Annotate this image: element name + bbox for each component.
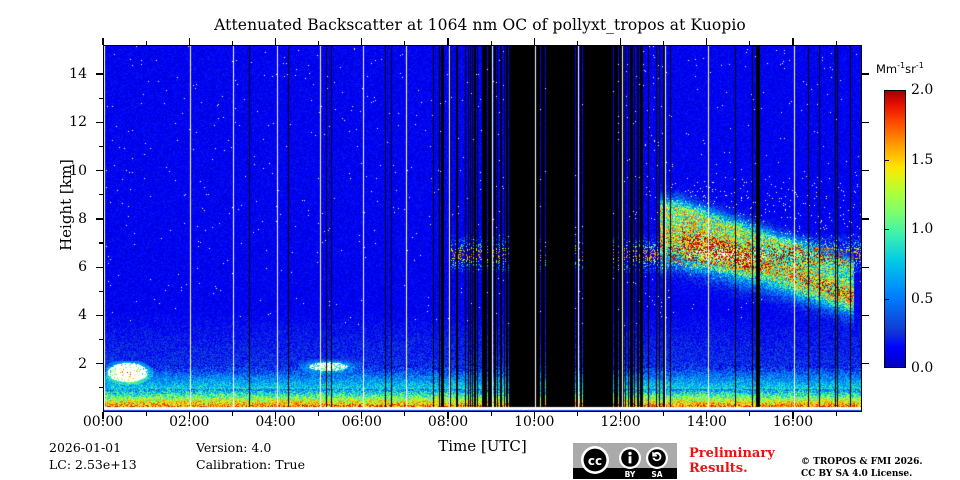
footer-date: 2026-01-01	[49, 440, 121, 455]
x-tick-mark	[102, 412, 103, 419]
x-tick-minor	[749, 412, 750, 416]
y-tick-mark	[96, 122, 103, 123]
x-tick-mark-top	[361, 38, 362, 45]
preliminary-results-notice: Preliminary Results.	[689, 446, 775, 476]
x-tick-mark	[534, 412, 535, 419]
x-tick-minor	[404, 412, 405, 416]
x-tick-mark	[706, 412, 707, 419]
y-tick-minor	[99, 339, 103, 340]
y-tick-minor	[99, 98, 103, 99]
x-tick-minor-top	[318, 41, 319, 45]
colorbar-tick-label: 1.0	[911, 221, 933, 237]
preliminary-line-1: Preliminary	[689, 446, 775, 461]
copyright-notice: © TROPOS & FMI 2026. CC BY SA 4.0 Licens…	[801, 456, 923, 480]
x-tick-mark-top	[534, 38, 535, 45]
plot-area	[103, 45, 862, 412]
y-tick-mark	[96, 218, 103, 219]
x-tick-minor	[836, 412, 837, 416]
x-tick-mark-top	[275, 38, 276, 45]
x-tick-mark-top	[792, 38, 793, 45]
footer-version: Version: 4.0	[196, 440, 271, 455]
backscatter-heatmap	[104, 46, 862, 412]
x-tick-minor-top	[577, 41, 578, 45]
y-tick-label: 8	[47, 211, 87, 227]
x-tick-minor	[318, 412, 319, 416]
y-tick-mark-right	[862, 170, 869, 171]
y-tick-mark-right	[862, 218, 869, 219]
x-tick-mark	[447, 412, 448, 419]
x-tick-mark	[189, 412, 190, 419]
y-tick-label: 12	[47, 114, 87, 130]
colorbar-unit-label: Mm-1sr-1	[876, 61, 924, 76]
x-tick-minor	[146, 412, 147, 416]
colorbar-tick-mark	[884, 160, 889, 161]
x-tick-minor	[491, 412, 492, 416]
y-tick-label: 2	[47, 356, 87, 372]
y-tick-minor	[99, 387, 103, 388]
y-tick-minor	[99, 146, 103, 147]
y-tick-mark	[96, 267, 103, 268]
x-tick-minor-top	[663, 41, 664, 45]
y-tick-mark	[96, 315, 103, 316]
cc-sa-label: SA	[651, 470, 662, 479]
lidar-quicklook-figure: Attenuated Backscatter at 1064 nm OC of …	[0, 0, 960, 480]
x-tick-minor-top	[146, 41, 147, 45]
cc-mark-text: cc	[588, 454, 602, 468]
creative-commons-badge: cc BY SA	[573, 443, 677, 479]
y-tick-mark	[96, 170, 103, 171]
colorbar-tick-label: 0.0	[911, 360, 933, 376]
y-tick-mark-right	[862, 122, 869, 123]
x-tick-mark	[361, 412, 362, 419]
x-tick-minor	[232, 412, 233, 416]
x-tick-mark-top	[620, 38, 621, 45]
y-tick-mark	[96, 363, 103, 364]
footer-lidar-constant: LC: 2.53e+13	[49, 457, 137, 472]
y-tick-label: 10	[47, 163, 87, 179]
y-tick-label: 6	[47, 259, 87, 275]
y-tick-mark-right	[862, 73, 869, 74]
y-tick-minor	[99, 291, 103, 292]
x-tick-mark-top	[102, 38, 103, 45]
y-tick-mark	[96, 73, 103, 74]
x-tick-minor-top	[491, 41, 492, 45]
y-tick-minor	[99, 242, 103, 243]
x-tick-mark-top	[706, 38, 707, 45]
x-tick-mark-top	[189, 38, 190, 45]
copyright-line-2: CC BY SA 4.0 License.	[801, 468, 923, 480]
y-tick-mark-right	[862, 315, 869, 316]
y-tick-mark-right	[862, 363, 869, 364]
x-tick-minor-top	[404, 41, 405, 45]
x-tick-minor-top	[836, 41, 837, 45]
y-tick-label: 4	[47, 307, 87, 323]
y-tick-label: 14	[47, 66, 87, 82]
page-title: Attenuated Backscatter at 1064 nm OC of …	[0, 16, 960, 34]
x-tick-mark-top	[447, 38, 448, 45]
x-tick-minor-top	[749, 41, 750, 45]
footer-calibration: Calibration: True	[196, 457, 305, 472]
x-tick-mark	[620, 412, 621, 419]
copyright-line-1: © TROPOS & FMI 2026.	[801, 456, 923, 468]
colorbar-tick-mark	[884, 229, 889, 230]
colorbar-tick-label: 1.5	[911, 152, 933, 168]
x-tick-mark	[275, 412, 276, 419]
x-tick-mark	[792, 412, 793, 419]
cc-by-label: BY	[625, 470, 636, 479]
x-tick-minor-top	[232, 41, 233, 45]
x-tick-minor	[663, 412, 664, 416]
preliminary-line-2: Results.	[689, 461, 775, 476]
y-tick-mark-right	[862, 267, 869, 268]
colorbar-tick-label: 2.0	[911, 82, 933, 98]
x-tick-minor	[577, 412, 578, 416]
y-tick-minor	[99, 194, 103, 195]
colorbar-tick-mark	[884, 299, 889, 300]
colorbar-tick-label: 0.5	[911, 291, 933, 307]
